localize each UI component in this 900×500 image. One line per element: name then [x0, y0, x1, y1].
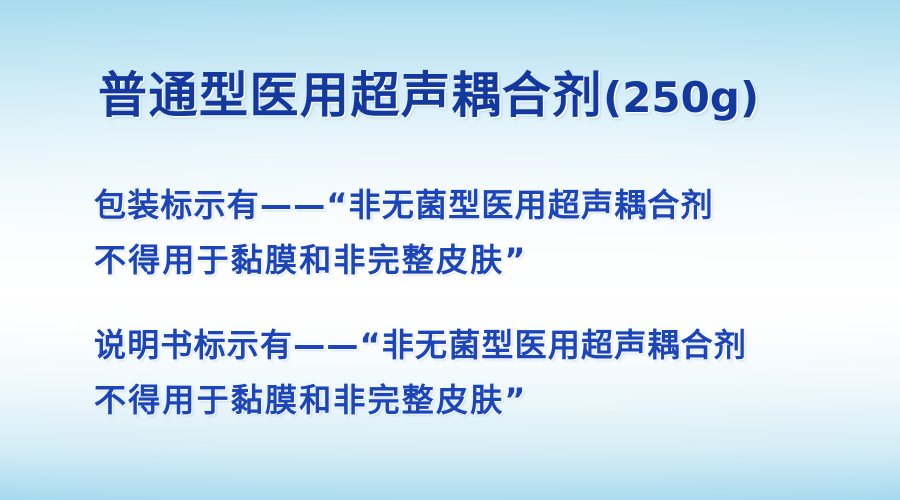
packaging-statement-line-1: 包装标示有——“非无菌型医用超声耦合剂 — [94, 178, 714, 233]
slide-content: 普通型医用超声耦合剂(250g) 包装标示有——“非无菌型医用超声耦合剂 不得用… — [0, 0, 900, 500]
packaging-statement: 包装标示有——“非无菌型医用超声耦合剂 不得用于黏膜和非完整皮肤” — [94, 178, 714, 288]
page-title: 普通型医用超声耦合剂(250g) — [98, 68, 759, 124]
page-title-unit: (250g) — [603, 73, 759, 122]
manual-statement: 说明书标示有——“非无菌型医用超声耦合剂 不得用于黏膜和非完整皮肤” — [94, 318, 747, 428]
slide-canvas: 普通型医用超声耦合剂(250g) 包装标示有——“非无菌型医用超声耦合剂 不得用… — [0, 0, 900, 500]
page-title-main: 普通型医用超声耦合剂 — [98, 67, 603, 124]
manual-statement-line-1: 说明书标示有——“非无菌型医用超声耦合剂 — [94, 318, 747, 373]
packaging-statement-line-2: 不得用于黏膜和非完整皮肤” — [94, 233, 714, 288]
manual-statement-line-2: 不得用于黏膜和非完整皮肤” — [94, 373, 747, 428]
